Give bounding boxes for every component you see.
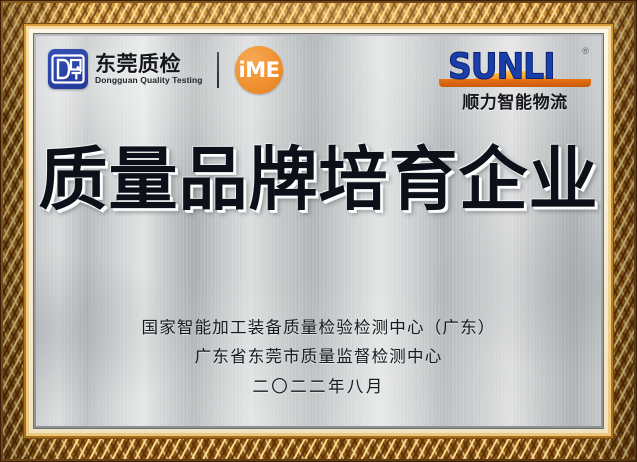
issuer-block: 国家智能加工装备质量检验检测中心（广东） 广东省东莞市质量监督检测中心 二〇二二… <box>36 314 601 402</box>
dqt-name-en: Dongguan Quality Testing <box>95 76 203 85</box>
ime-badge-label: iME <box>235 46 283 94</box>
issuer-line-2: 广东省东莞市质量监督检测中心 <box>36 343 601 372</box>
registered-trademark-icon: ® <box>582 46 589 56</box>
dqt-monogram-icon <box>48 49 88 89</box>
dongguan-quality-testing-logo: 东莞质检 Dongguan Quality Testing <box>48 49 203 89</box>
issuer-line-1: 国家智能加工装备质量检验检测中心（广东） <box>36 314 601 343</box>
sunli-brand-text: SUNLI <box>448 45 555 87</box>
sunli-brand-row: SUNLI ® <box>439 46 591 84</box>
sunli-logo: SUNLI ® 顺力智能物流 <box>439 46 591 116</box>
vertical-divider-icon <box>217 52 219 88</box>
award-plaque: 东莞质检 Dongguan Quality Testing iME SUNLI … <box>0 0 637 462</box>
dqt-name-cn: 东莞质检 <box>95 54 203 75</box>
issuer-date: 二〇二二年八月 <box>36 373 601 402</box>
ime-badge-logo: iME <box>235 46 283 94</box>
sunli-name-cn: 顺力智能物流 <box>439 88 591 113</box>
dqt-wordmark: 东莞质检 Dongguan Quality Testing <box>95 54 203 85</box>
metal-plate: 东莞质检 Dongguan Quality Testing iME SUNLI … <box>36 36 601 426</box>
plate-content: 东莞质检 Dongguan Quality Testing iME SUNLI … <box>36 36 601 426</box>
plaque-title: 质量品牌培育企业 <box>36 146 601 215</box>
